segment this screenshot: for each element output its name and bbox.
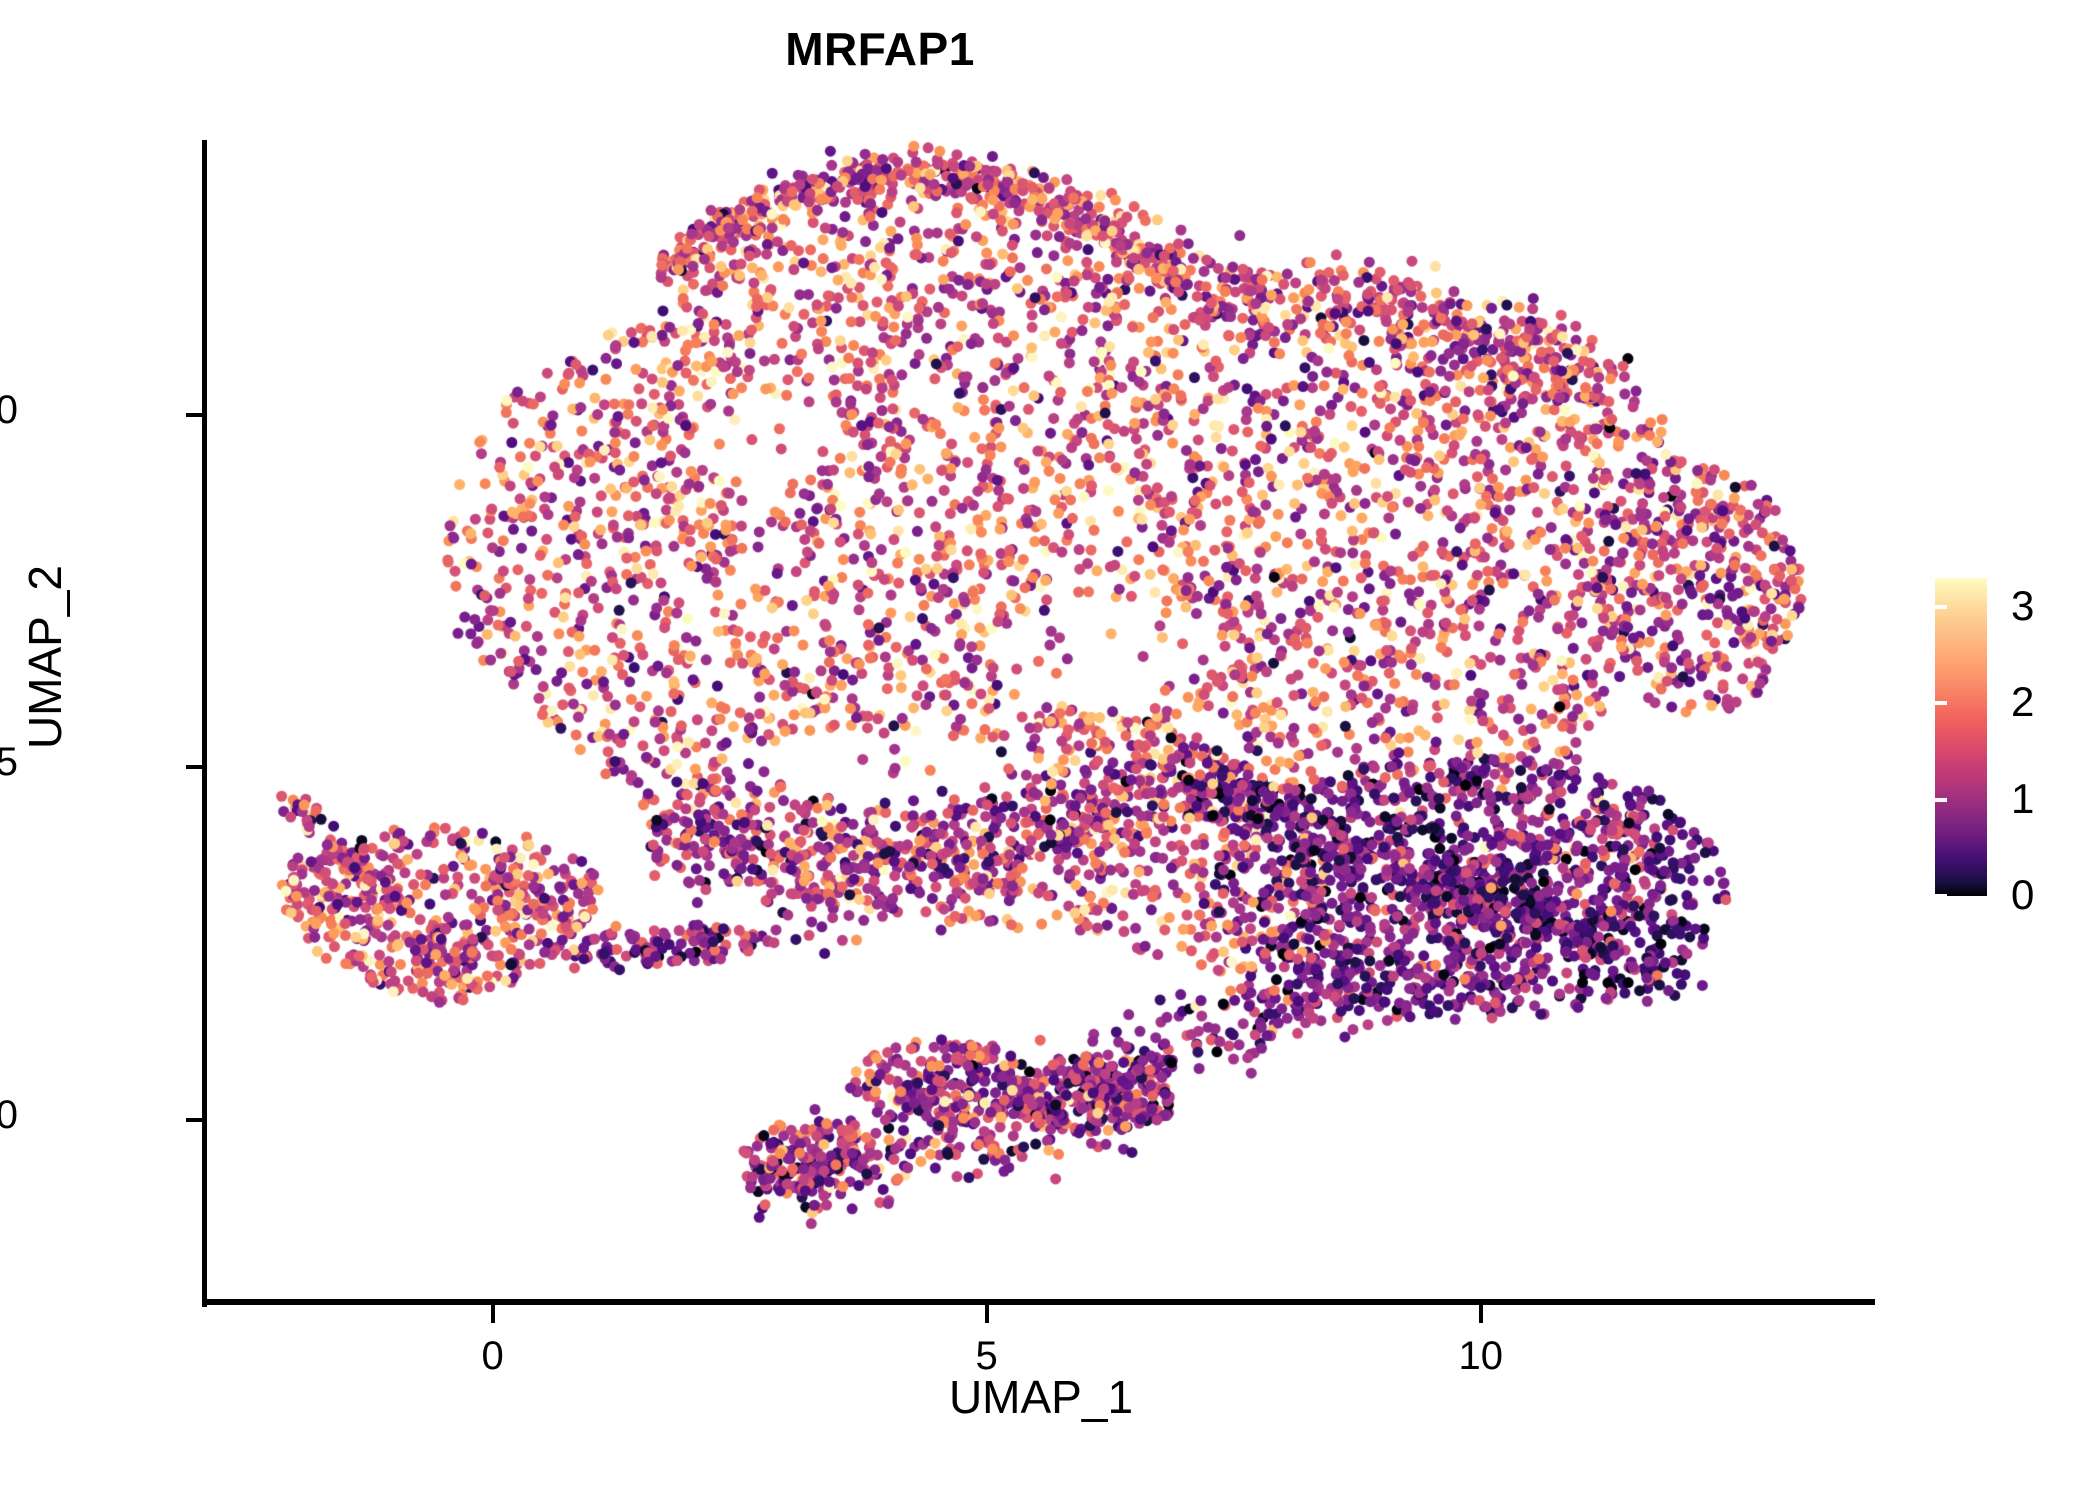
colorbar-tick-2-right <box>2083 701 2095 705</box>
page-title: MRFAP1 <box>0 22 1760 76</box>
colorbar-gradient <box>1935 578 1987 896</box>
y-axis-tick-0 <box>186 1118 203 1122</box>
x-axis-title: UMAP_1 <box>206 1370 1876 1424</box>
plot-panel <box>206 140 1876 1303</box>
y-axis-tick-label-5: 5 <box>0 740 18 785</box>
scatter-plot-canvas <box>206 140 1876 1303</box>
colorbar-tick-3-right <box>2083 605 2095 609</box>
y-axis-tick-10 <box>186 413 203 417</box>
colorbar-label-2: 2 <box>2011 681 2034 723</box>
colorbar-label-3: 3 <box>2011 585 2034 627</box>
colorbar-label-0: 0 <box>2011 874 2034 916</box>
colorbar-tick-3-left <box>1935 605 1947 609</box>
x-axis-tick-5 <box>985 1305 989 1323</box>
colorbar-legend: 3 2 1 0 <box>1935 578 2095 898</box>
colorbar-tick-2-left <box>1935 701 1947 705</box>
y-axis-tick-label-0: 0 <box>0 1093 18 1138</box>
colorbar-label-1: 1 <box>2011 778 2034 820</box>
colorbar-tick-1-right <box>2083 798 2095 802</box>
y-axis-tick-5 <box>186 765 203 769</box>
x-axis-tick-10 <box>1479 1305 1483 1323</box>
colorbar-tick-1-left <box>1935 798 1947 802</box>
y-axis-tick-label-10: 10 <box>0 388 18 433</box>
x-axis-line <box>202 1299 1875 1305</box>
colorbar-tick-0-right <box>2083 894 2095 898</box>
colorbar-tick-0-left <box>1935 894 1947 898</box>
figure-root: MRFAP1 10 5 0 0 5 10 UMAP_2 UMAP_1 3 2 1… <box>0 0 2100 1500</box>
x-axis-tick-0 <box>491 1305 495 1323</box>
y-axis-line <box>202 140 207 1307</box>
y-axis-title: UMAP_2 <box>18 437 72 877</box>
